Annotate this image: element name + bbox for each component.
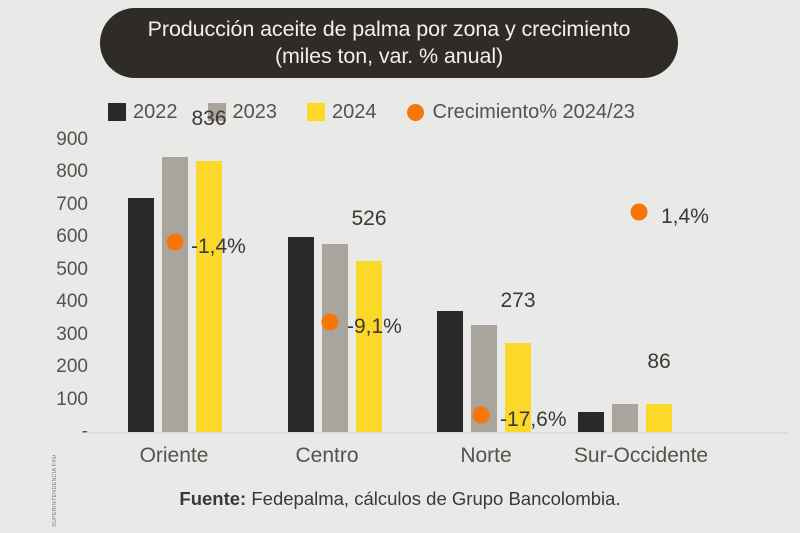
- x-axis-tick-sur-occidente: Sur-Occidente: [574, 444, 708, 468]
- bar-oriente-2023[interactable]: [162, 157, 188, 432]
- source-note-text: Fedepalma, cálculos de Grupo Bancolombia…: [246, 488, 620, 509]
- bar-group-sur-occidente: 86: [578, 140, 672, 432]
- bar-oriente-2022[interactable]: [128, 198, 154, 432]
- value-label-centro: 526: [351, 207, 386, 231]
- y-axis-tick: 300: [26, 324, 88, 346]
- square-swatch-icon: [108, 103, 126, 121]
- growth-label-centro: -9,1%: [347, 315, 402, 339]
- value-label-norte: 273: [500, 289, 535, 313]
- bar-centro-2023[interactable]: [322, 244, 348, 432]
- bar-group-oriente: 836: [128, 140, 222, 432]
- x-axis-tick-oriente: Oriente: [140, 444, 209, 468]
- x-axis: OrienteCentroNorteSur-Occidente: [0, 444, 800, 478]
- y-axis: 900800700600500400300200100-: [26, 140, 88, 440]
- bar-centro-2024[interactable]: [356, 261, 382, 432]
- y-axis-tick: 400: [26, 291, 88, 313]
- x-axis-tick-norte: Norte: [460, 444, 511, 468]
- legend-item-label: 2022: [133, 101, 178, 124]
- y-axis-tick: 600: [26, 226, 88, 248]
- bar-oriente-2024[interactable]: [196, 161, 222, 432]
- source-note: Fuente: Fedepalma, cálculos de Grupo Ban…: [0, 488, 800, 510]
- legend-item-label: 2024: [332, 101, 377, 124]
- chart-legend: 202220232024Crecimiento% 2024/23: [108, 96, 635, 128]
- y-axis-tick: 700: [26, 194, 88, 216]
- watermark: SUPERINTENDENCIA FINANCIERA DE COLOMBIA: [48, 455, 64, 533]
- legend-item-label: 2023: [233, 101, 278, 124]
- legend-item-crecimiento-2024-23[interactable]: Crecimiento% 2024/23: [407, 101, 635, 124]
- bar-norte-2022[interactable]: [437, 311, 463, 432]
- source-note-prefix: Fuente:: [179, 488, 246, 509]
- y-axis-tick: -: [26, 421, 88, 443]
- y-axis-tick: 900: [26, 129, 88, 151]
- bar-group-norte: 273: [437, 140, 531, 432]
- value-label-sur-occidente: 86: [647, 350, 670, 374]
- legend-item-2024[interactable]: 2024: [307, 101, 377, 124]
- y-axis-tick: 200: [26, 356, 88, 378]
- value-label-oriente: 836: [191, 107, 226, 131]
- page-subtitle: (miles ton, var. % anual): [275, 43, 503, 70]
- bar-sur-occidente-2024[interactable]: [646, 404, 672, 432]
- axis-baseline: [88, 432, 788, 434]
- legend-item-label: Crecimiento% 2024/23: [433, 101, 635, 124]
- legend-item-2022[interactable]: 2022: [108, 101, 178, 124]
- chart-title-banner: Producción aceite de palma por zona y cr…: [100, 8, 678, 78]
- growth-dot-centro[interactable]: [322, 314, 339, 331]
- growth-dot-norte[interactable]: [473, 407, 490, 424]
- growth-label-oriente: -1,4%: [191, 235, 246, 259]
- bar-sur-occidente-2022[interactable]: [578, 412, 604, 432]
- y-axis-tick: 100: [26, 389, 88, 411]
- bar-group-centro: 526: [288, 140, 382, 432]
- circle-dot-icon: [407, 104, 424, 121]
- square-swatch-icon: [307, 103, 325, 121]
- x-axis-tick-centro: Centro: [295, 444, 358, 468]
- chart-plot-area: 900800700600500400300200100- 83652627386…: [0, 140, 800, 440]
- page-title: Producción aceite de palma por zona y cr…: [148, 16, 631, 43]
- y-axis-tick: 500: [26, 259, 88, 281]
- growth-label-sur-occidente: 1,4%: [661, 205, 709, 229]
- bar-sur-occidente-2023[interactable]: [612, 404, 638, 432]
- watermark-text: SUPERINTENDENCIA FINANCIERA DE COLOMBIA: [52, 511, 58, 527]
- growth-dot-sur-occidente[interactable]: [631, 204, 648, 221]
- growth-dot-oriente[interactable]: [167, 234, 184, 251]
- bar-centro-2022[interactable]: [288, 237, 314, 432]
- y-axis-tick: 800: [26, 161, 88, 183]
- growth-label-norte: -17,6%: [500, 408, 567, 432]
